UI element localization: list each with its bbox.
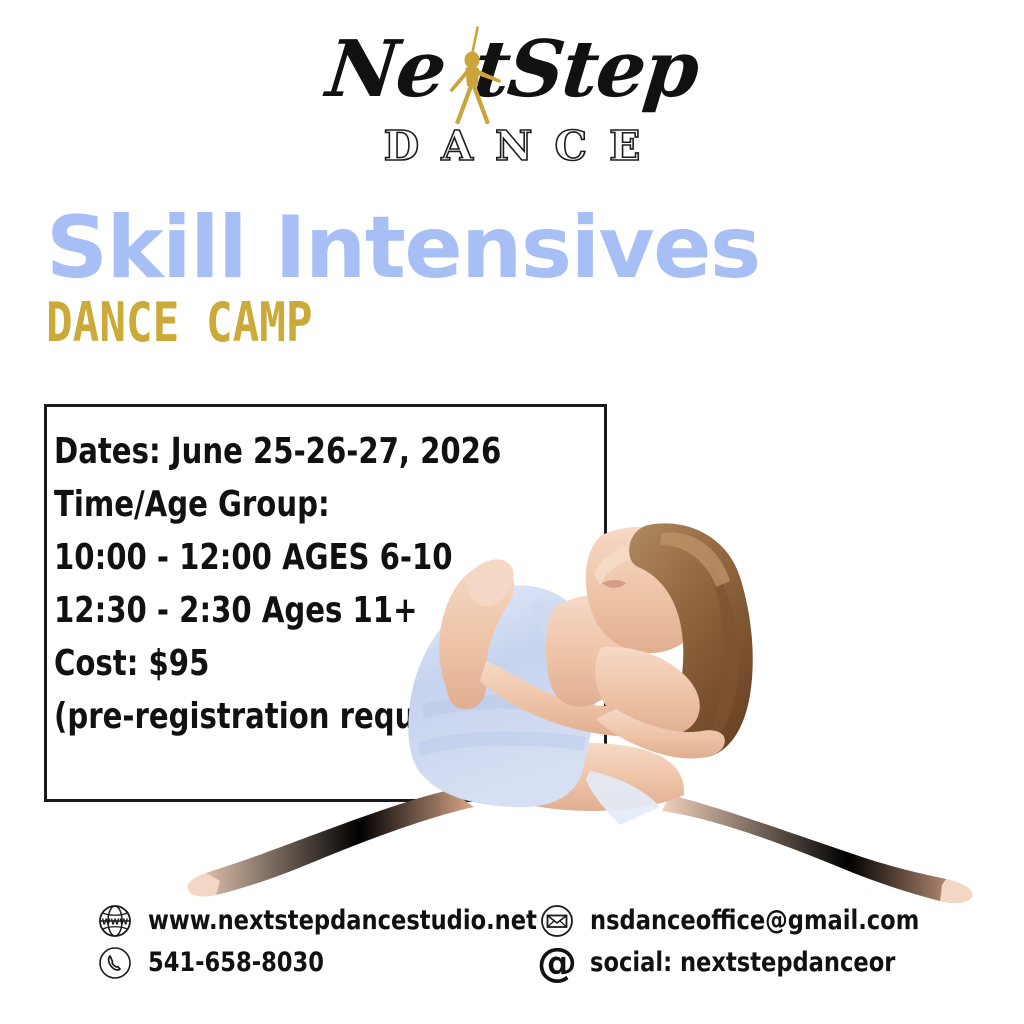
logo-script-part-2: tStep — [469, 24, 701, 115]
contact-column-right: nsdanceoffice@gmail.com @ social: nextst… — [538, 900, 944, 984]
detail-line-cost: Cost: $95 — [54, 637, 540, 690]
headline-block: Skill Intensives DANCE CAMP — [46, 200, 946, 354]
logo-wordmark: NetStep — [297, 18, 727, 138]
logo-script-part-1: Ne — [323, 24, 450, 115]
dancer-right-forearm — [596, 709, 725, 759]
logo-dance-word: DANCE — [362, 122, 663, 170]
flyer-canvas: NetStep — [0, 0, 1024, 1024]
svg-text:WWW: WWW — [102, 918, 129, 927]
detail-line-dates: Dates: June 25-26-27, 2026 — [54, 425, 540, 478]
contact-column-left: WWW www.nextstepdancestudio.net 541-658-… — [96, 900, 566, 984]
page-subtitle: DANCE CAMP — [46, 292, 784, 354]
dancer-right-leg — [662, 795, 972, 903]
contact-row-social[interactable]: @ social: nextstepdanceor — [538, 942, 944, 984]
detail-line-time-age: Time/Age Group: — [54, 478, 540, 531]
globe-www-icon: WWW — [96, 902, 134, 940]
email-text: nsdanceoffice@gmail.com — [590, 906, 919, 936]
contact-row-website[interactable]: WWW www.nextstepdancestudio.net — [96, 900, 566, 942]
website-text: www.nextstepdancestudio.net — [148, 906, 537, 936]
page-title: Skill Intensives — [46, 200, 946, 296]
detail-line-note: (pre-registration required) — [54, 690, 540, 743]
contact-row-email[interactable]: nsdanceoffice@gmail.com — [538, 900, 944, 942]
logo-script-text: NetStep — [292, 18, 733, 122]
brand-logo: NetStep — [0, 18, 1024, 183]
dancer-left-leg — [188, 790, 474, 896]
detail-line-session-1: 10:00 - 12:00 AGES 6-10 — [54, 531, 540, 584]
detail-line-session-2: 12:30 - 2:30 Ages 11+ — [54, 584, 540, 637]
contact-row-phone[interactable]: 541-658-8030 — [96, 942, 566, 984]
social-text: social: nextstepdanceor — [590, 948, 895, 978]
envelope-icon — [538, 902, 576, 940]
details-list: Dates: June 25-26-27, 2026 Time/Age Grou… — [54, 425, 594, 743]
phone-icon — [96, 944, 134, 982]
dancer-silhouette-icon — [446, 24, 504, 128]
contact-footer: WWW www.nextstepdancestudio.net 541-658-… — [0, 900, 1024, 1010]
at-sign-icon: @ — [538, 944, 576, 982]
dancer-right-shoulder — [595, 647, 700, 736]
dancer-hair — [629, 523, 753, 757]
phone-text: 541-658-8030 — [148, 948, 324, 978]
